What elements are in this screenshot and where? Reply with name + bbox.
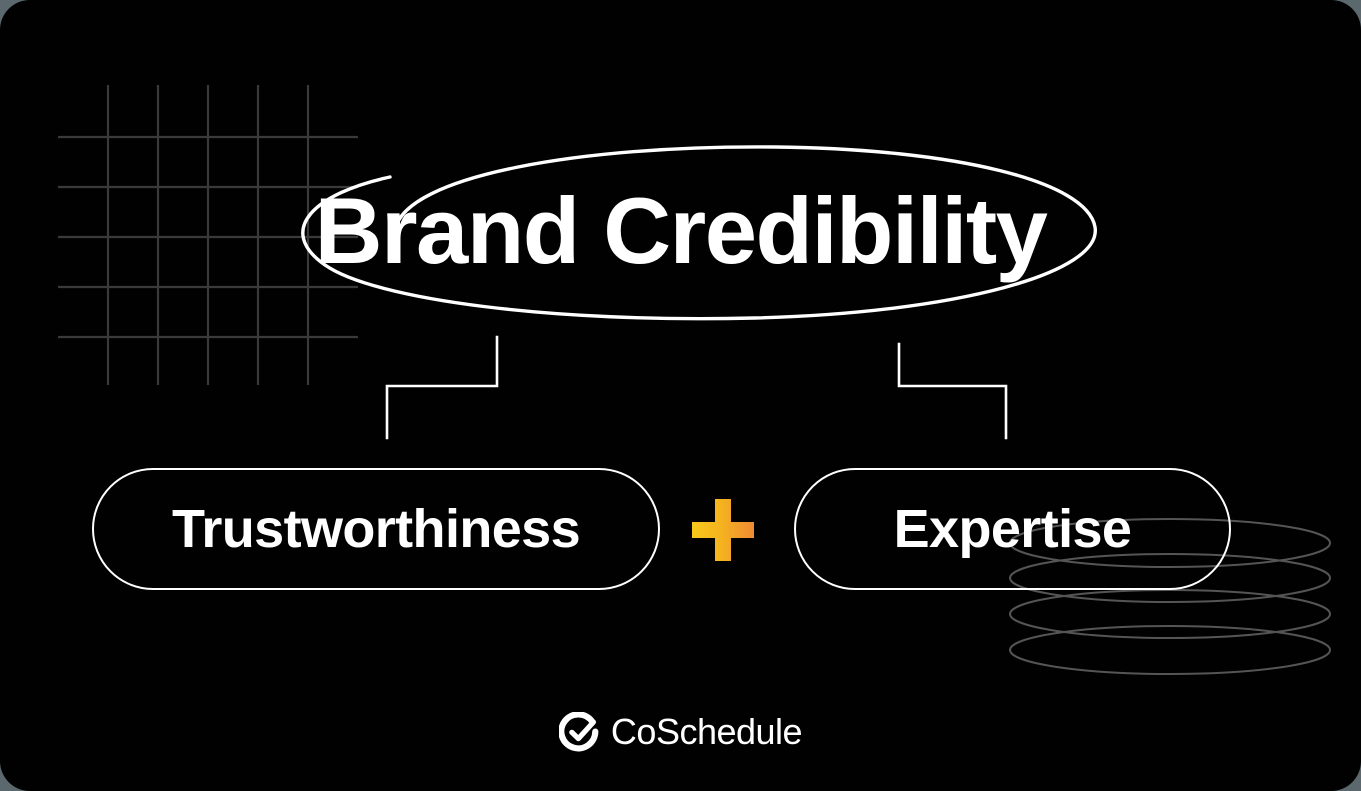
coschedule-logo: CoSchedule [0,712,1361,752]
title-text: Brand Credibility [315,176,1047,286]
connector-lines [0,0,1361,791]
node-trustworthiness-label: Trustworthiness [172,498,580,560]
graphic-card: Brand Credibility Trustworthiness [0,0,1361,791]
node-trustworthiness[interactable]: Trustworthiness [92,468,660,590]
coschedule-check-mark-icon [559,712,599,752]
page-title: Brand Credibility [0,176,1361,286]
node-expertise[interactable]: Expertise [794,468,1231,590]
connector-left [387,337,497,438]
screenshot-stage: Brand Credibility Trustworthiness [0,0,1361,791]
node-expertise-label: Expertise [894,498,1132,560]
connector-right [899,344,1006,438]
plus-icon [692,499,754,561]
coschedule-wordmark: CoSchedule [611,712,802,752]
